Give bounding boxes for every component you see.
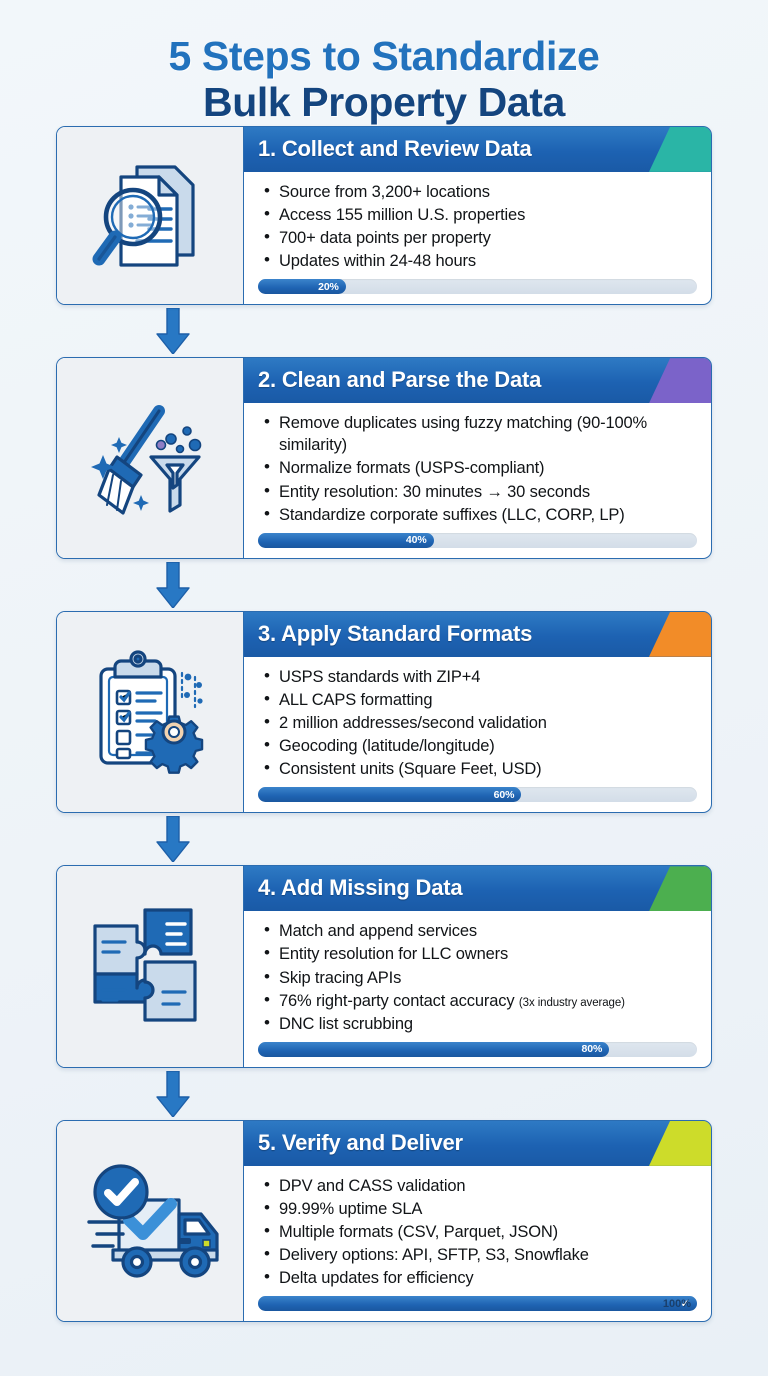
step-card[interactable]: 1. Collect and Review Data Source from 3… <box>56 126 712 305</box>
step-connector-arrow <box>56 1068 712 1120</box>
bullet-item: Geocoding (latitude/longitude) <box>264 735 697 757</box>
corner-accent <box>649 866 711 911</box>
progress-label: 80% <box>581 1043 602 1055</box>
bullet-text: Source from 3,200+ locations <box>279 183 490 201</box>
progress-fill: 80% <box>258 1042 609 1057</box>
step-bullets: Remove duplicates using fuzzy matching (… <box>244 403 711 529</box>
page-title: 5 Steps to Standardize Bulk Property Dat… <box>0 0 768 126</box>
step-icon-pane <box>57 612 244 813</box>
bullet-text: USPS standards with ZIP+4 <box>279 668 480 686</box>
broom-funnel-icon <box>75 383 225 533</box>
progress-track[interactable]: 20% <box>258 279 697 294</box>
bullet-text: Delta updates for efficiency <box>279 1269 474 1287</box>
arrow-down-icon <box>156 1071 190 1117</box>
step-bullets: USPS standards with ZIP+4ALL CAPS format… <box>244 657 711 784</box>
bullet-item: USPS standards with ZIP+4 <box>264 666 697 688</box>
step-progress-row: 40% <box>244 529 711 558</box>
bullet-item: Skip tracing APIs <box>264 967 697 989</box>
step-body: 3. Apply Standard Formats USPS standards… <box>244 612 711 813</box>
step-connector-arrow <box>56 305 712 357</box>
step-card[interactable]: 2. Clean and Parse the Data Remove dupli… <box>56 357 712 559</box>
progress-label: 40% <box>406 534 427 546</box>
bullet-item: 700+ data points per property <box>264 227 697 249</box>
progress-track[interactable]: 80% <box>258 1042 697 1057</box>
bullet-item: Delta updates for efficiency <box>264 1267 697 1289</box>
bullet-text: 700+ data points per property <box>279 229 491 247</box>
bullet-item: 2 million addresses/second validation <box>264 712 697 734</box>
magnifier-documents-icon <box>75 141 225 291</box>
step-body: 1. Collect and Review Data Source from 3… <box>244 127 711 304</box>
progress-label: 20% <box>318 281 339 293</box>
step-progress-row: ✔ 100% <box>244 1292 711 1321</box>
bullet-text: Access 155 million U.S. properties <box>279 206 525 224</box>
bullet-item: Multiple formats (CSV, Parquet, JSON) <box>264 1221 697 1243</box>
corner-accent <box>649 358 711 403</box>
progress-fill: 20% <box>258 279 346 294</box>
bullet-item: Standardize corporate suffixes (LLC, COR… <box>264 504 697 526</box>
step-icon-pane <box>57 1121 244 1322</box>
bullet-text: Geocoding (latitude/longitude) <box>279 737 495 755</box>
bullet-text: Entity resolution: 30 minutes → 30 secon… <box>279 483 590 501</box>
bullet-item: Normalize formats (USPS-compliant) <box>264 457 697 479</box>
clipboard-gear-icon <box>75 637 225 787</box>
step-block-4: 4. Add Missing Data Match and append ser… <box>56 865 712 1068</box>
arrow-down-icon <box>156 562 190 608</box>
bullet-text: Consistent units (Square Feet, USD) <box>279 760 542 778</box>
bullet-item: Source from 3,200+ locations <box>264 181 697 203</box>
bullet-item: DPV and CASS validation <box>264 1175 697 1197</box>
progress-fill: 40% <box>258 533 434 548</box>
bullet-text: Delivery options: API, SFTP, S3, Snowfla… <box>279 1246 589 1264</box>
bullet-item: Entity resolution for LLC owners <box>264 943 697 965</box>
steps-list: 1. Collect and Review Data Source from 3… <box>0 126 768 1323</box>
step-body: 5. Verify and Deliver DPV and CASS valid… <box>244 1121 711 1322</box>
bullet-text: DNC list scrubbing <box>279 1015 413 1033</box>
step-heading: 1. Collect and Review Data <box>258 136 532 161</box>
step-connector-arrow <box>56 813 712 865</box>
step-header: 2. Clean and Parse the Data <box>244 358 711 403</box>
bullet-item: Entity resolution: 30 minutes → 30 secon… <box>264 481 697 503</box>
bullet-item: DNC list scrubbing <box>264 1013 697 1035</box>
bullet-item: Remove duplicates using fuzzy matching (… <box>264 412 697 456</box>
step-header: 3. Apply Standard Formats <box>244 612 711 657</box>
step-card[interactable]: 5. Verify and Deliver DPV and CASS valid… <box>56 1120 712 1323</box>
step-heading: 5. Verify and Deliver <box>258 1130 463 1155</box>
corner-accent <box>649 612 711 657</box>
progress-label-outside: 100% <box>663 1298 691 1310</box>
bullet-item: 99.99% uptime SLA <box>264 1198 697 1220</box>
page-title-line-2: Bulk Property Data <box>0 80 768 126</box>
step-block-3: 3. Apply Standard Formats USPS standards… <box>56 611 712 814</box>
progress-track[interactable]: 60% <box>258 787 697 802</box>
bullet-text: Match and append services <box>279 922 477 940</box>
bullet-text: Normalize formats (USPS-compliant) <box>279 459 544 477</box>
bullet-text: Updates within 24-48 hours <box>279 252 476 270</box>
progress-fill: 60% <box>258 787 521 802</box>
step-progress-row: 20% <box>244 275 711 304</box>
bullet-item: Delivery options: API, SFTP, S3, Snowfla… <box>264 1244 697 1266</box>
step-block-5: 5. Verify and Deliver DPV and CASS valid… <box>56 1120 712 1323</box>
step-header: 4. Add Missing Data <box>244 866 711 911</box>
bullet-text: 76% right-party contact accuracy <box>279 992 514 1010</box>
progress-track[interactable]: 40% <box>258 533 697 548</box>
delivery-truck-check-icon <box>75 1146 225 1296</box>
bullet-item: Match and append services <box>264 920 697 942</box>
bullet-text: DPV and CASS validation <box>279 1177 465 1195</box>
step-progress-row: 80% <box>244 1038 711 1067</box>
step-block-2: 2. Clean and Parse the Data Remove dupli… <box>56 357 712 559</box>
page-title-line-1: 5 Steps to Standardize <box>0 34 768 80</box>
step-connector-arrow <box>56 559 712 611</box>
puzzle-pieces-icon <box>75 892 225 1042</box>
step-heading: 2. Clean and Parse the Data <box>258 367 541 392</box>
bullet-item: 76% right-party contact accuracy (3x ind… <box>264 990 697 1012</box>
step-header: 1. Collect and Review Data <box>244 127 711 172</box>
bullet-text: Standardize corporate suffixes (LLC, COR… <box>279 506 625 524</box>
bullet-item: Access 155 million U.S. properties <box>264 204 697 226</box>
bullet-item: Consistent units (Square Feet, USD) <box>264 758 697 780</box>
bullet-text: Entity resolution for LLC owners <box>279 945 508 963</box>
step-progress-row: 60% <box>244 783 711 812</box>
step-bullets: DPV and CASS validation99.99% uptime SLA… <box>244 1166 711 1293</box>
step-bullets: Match and append servicesEntity resoluti… <box>244 911 711 1038</box>
step-card[interactable]: 3. Apply Standard Formats USPS standards… <box>56 611 712 814</box>
step-icon-pane <box>57 358 244 558</box>
corner-accent <box>649 1121 711 1166</box>
step-card[interactable]: 4. Add Missing Data Match and append ser… <box>56 865 712 1068</box>
step-heading: 4. Add Missing Data <box>258 875 462 900</box>
step-bullets: Source from 3,200+ locationsAccess 155 m… <box>244 172 711 275</box>
step-body: 2. Clean and Parse the Data Remove dupli… <box>244 358 711 558</box>
bullet-text: 2 million addresses/second validation <box>279 714 547 732</box>
step-header: 5. Verify and Deliver <box>244 1121 711 1166</box>
arrow-down-icon <box>156 308 190 354</box>
step-body: 4. Add Missing Data Match and append ser… <box>244 866 711 1067</box>
step-block-1: 1. Collect and Review Data Source from 3… <box>56 126 712 305</box>
progress-label: 60% <box>494 789 515 801</box>
bullet-text: 99.99% uptime SLA <box>279 1200 422 1218</box>
progress-fill: ✔ <box>258 1296 697 1311</box>
arrow-down-icon <box>156 816 190 862</box>
bullet-item: Updates within 24-48 hours <box>264 250 697 272</box>
bullet-text: Remove duplicates using fuzzy matching (… <box>279 414 647 454</box>
step-icon-pane <box>57 866 244 1067</box>
step-icon-pane <box>57 127 244 304</box>
bullet-text: ALL CAPS formatting <box>279 691 432 709</box>
bullet-item: ALL CAPS formatting <box>264 689 697 711</box>
bullet-text: Multiple formats (CSV, Parquet, JSON) <box>279 1223 558 1241</box>
bullet-text: Skip tracing APIs <box>279 969 401 987</box>
step-heading: 3. Apply Standard Formats <box>258 621 532 646</box>
bullet-note: (3x industry average) <box>519 997 625 1009</box>
corner-accent <box>649 127 711 172</box>
progress-track[interactable]: ✔ 100% <box>258 1296 697 1311</box>
